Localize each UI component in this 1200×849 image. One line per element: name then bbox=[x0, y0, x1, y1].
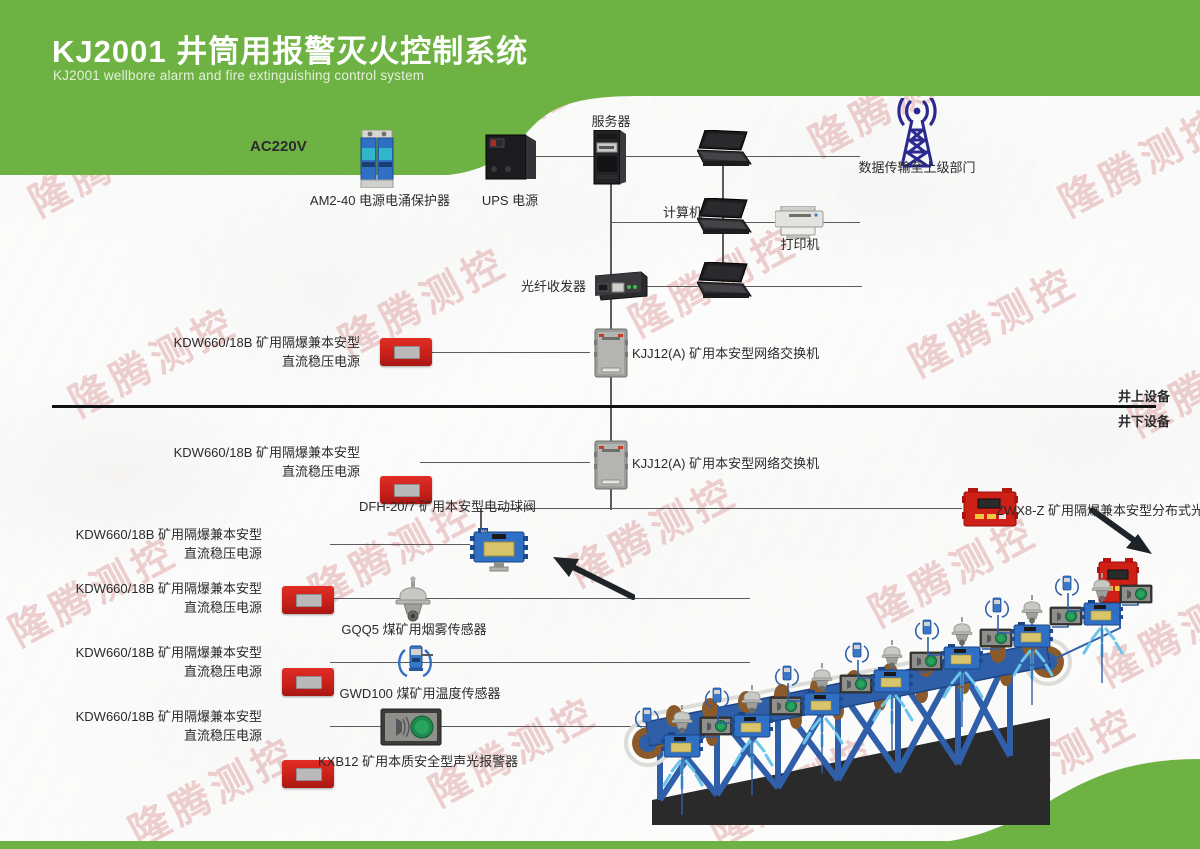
underground-label: 井下设备 bbox=[1118, 412, 1170, 431]
ps-line2: 直流稳压电源 bbox=[150, 462, 360, 481]
printer-label: 打印机 bbox=[760, 235, 840, 254]
ps-line1: KDW660/18B 矿用隔爆兼本安型 bbox=[52, 707, 262, 726]
underground-power-supply-label-3: KDW660/18B 矿用隔爆兼本安型 直流稳压电源 bbox=[52, 579, 262, 617]
sprinkler-station bbox=[776, 663, 872, 773]
fiber-transceiver-label: 光纤收发器 bbox=[440, 277, 586, 296]
sound-light-alarm-label: KXB12 矿用本质安全型声光报警器 bbox=[318, 752, 518, 771]
diagram-page: 隆腾测控 隆腾测控 隆腾测控 隆腾测控 隆腾测控 隆腾测控 隆腾测控 隆腾测控 … bbox=[0, 0, 1200, 849]
svg-text:MA: MA bbox=[481, 528, 487, 533]
fiber-transceiver-icon bbox=[595, 268, 649, 307]
ps-line2: 直流稳压电源 bbox=[52, 726, 262, 745]
server-icon bbox=[592, 130, 628, 191]
server-label: 服务器 bbox=[573, 112, 649, 131]
fiber-temp-host-label: ZWX8-Z 矿用隔爆兼本安型分布式光纤测温装置主机 bbox=[996, 501, 1200, 520]
sprinkler-stations bbox=[610, 555, 1190, 840]
ps-line2: 直流稳压电源 bbox=[150, 352, 360, 371]
page-title: KJ2001 井筒用报警灭火控制系统 bbox=[52, 26, 528, 71]
laptop-icon bbox=[697, 198, 753, 243]
underground-switch-label: KJJ12(A) 矿用本安型网络交换机 bbox=[632, 454, 819, 473]
power-supply-icon bbox=[282, 668, 334, 696]
ps-line1: KDW660/18B 矿用隔爆兼本安型 bbox=[52, 579, 262, 598]
underground-power-supply-label-4: KDW660/18B 矿用隔爆兼本安型 直流稳压电源 bbox=[52, 643, 262, 681]
ps-line1: KDW660/18B 矿用隔爆兼本安型 bbox=[150, 333, 360, 352]
computer-label: 计算机 bbox=[663, 203, 702, 222]
ps-line2: 直流稳压电源 bbox=[52, 544, 262, 563]
ps-line2: 直流稳压电源 bbox=[52, 598, 262, 617]
temperature-sensor-label: GWD100 煤矿用温度传感器 bbox=[330, 684, 510, 703]
surge-protector-label: AM2-40 电源电涌保护器 bbox=[305, 191, 455, 210]
power-supply-icon bbox=[380, 338, 432, 366]
header-accent-line bbox=[640, 90, 1200, 95]
network-switch-icon bbox=[594, 328, 628, 383]
power-supply-icon bbox=[282, 586, 334, 614]
wire-switch2-left bbox=[420, 462, 590, 463]
antenna-label: 数据传输至上级部门 bbox=[845, 158, 989, 177]
ups-icon bbox=[484, 133, 538, 186]
ps-line2: 直流稳压电源 bbox=[52, 662, 262, 681]
temperature-sensor-icon bbox=[395, 642, 439, 687]
ps-line1: KDW660/18B 矿用隔爆兼本安型 bbox=[52, 525, 262, 544]
surge-protector-icon bbox=[356, 130, 398, 193]
above-ground-label: 井上设备 bbox=[1118, 387, 1170, 406]
wire-switch1-to-switch2 bbox=[610, 374, 612, 444]
ps-line1: KDW660/18B 矿用隔爆兼本安型 bbox=[52, 643, 262, 662]
laptop-icon bbox=[697, 130, 753, 175]
ps-line1: KDW660/18B 矿用隔爆兼本安型 bbox=[150, 443, 360, 462]
surface-switch-label: KJJ12(A) 矿用本安型网络交换机 bbox=[632, 344, 819, 363]
wire-switch2-right bbox=[610, 508, 962, 509]
network-switch-icon bbox=[594, 440, 628, 495]
ac-input-label: AC220V bbox=[250, 137, 307, 156]
wire-ps3-valve bbox=[330, 544, 470, 545]
underground-power-supply-label-5: KDW660/18B 矿用隔爆兼本安型 直流稳压电源 bbox=[52, 707, 262, 745]
wire-switch1-left bbox=[420, 352, 590, 353]
surface-power-supply-label: KDW660/18B 矿用隔爆兼本安型 直流稳压电源 bbox=[150, 333, 360, 371]
sprinkler-station bbox=[1056, 573, 1152, 683]
laptop-icon bbox=[697, 262, 753, 307]
sprinkler-station bbox=[846, 640, 942, 750]
underground-power-supply-label-2: KDW660/18B 矿用隔爆兼本安型 直流稳压电源 bbox=[52, 525, 262, 563]
sound-light-alarm-icon bbox=[380, 708, 442, 751]
underground-power-supply-label-1: KDW660/18B 矿用隔爆兼本安型 直流稳压电源 bbox=[150, 443, 360, 481]
smoke-sensor-label: GQQ5 煤矿用烟雾传感器 bbox=[338, 620, 490, 639]
page-subtitle: KJ2001 wellbore alarm and fire extinguis… bbox=[53, 68, 424, 83]
ups-label: UPS 电源 bbox=[460, 191, 560, 210]
ball-valve-icon: MA bbox=[468, 528, 530, 579]
surface-underground-divider bbox=[52, 405, 1156, 408]
ball-valve-label: DFH-20/7 矿用本安型电动球阀 bbox=[280, 497, 536, 516]
